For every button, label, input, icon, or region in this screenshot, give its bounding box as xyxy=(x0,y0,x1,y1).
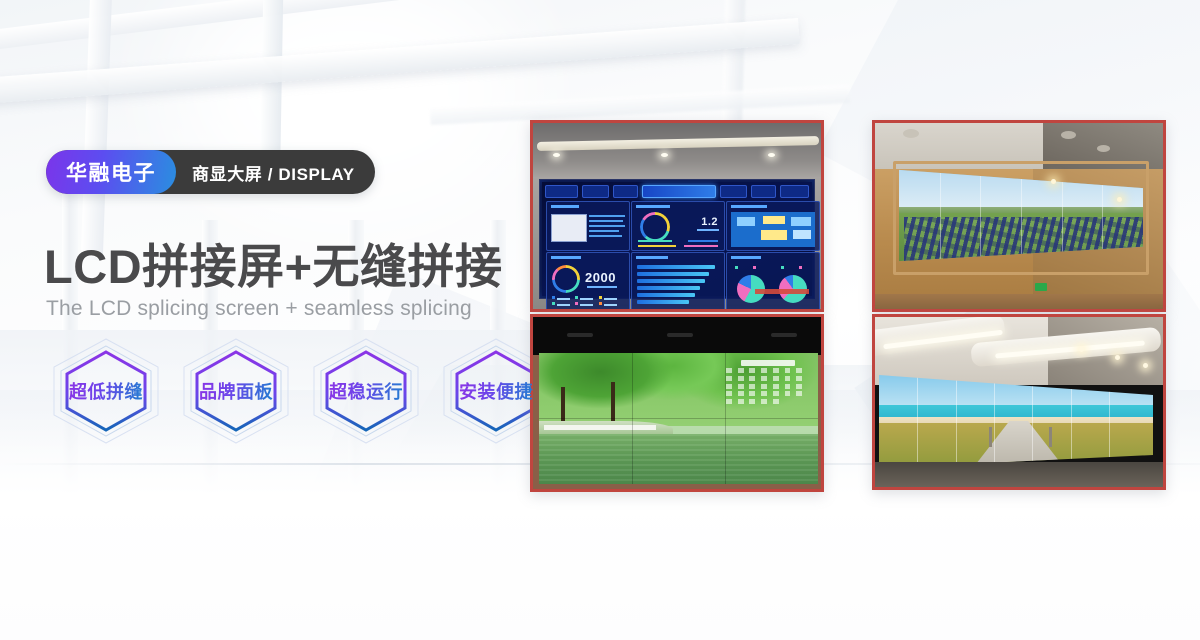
feature-item[interactable]: 超低拼缝 xyxy=(48,335,164,447)
gallery-photo-dashboard[interactable]: 1.2 xyxy=(530,120,824,312)
headline-title: LCD拼接屏+无缝拼接 xyxy=(44,228,503,297)
ceiling-speaker-icon xyxy=(1097,145,1110,152)
wall-frame xyxy=(893,161,1149,275)
gallery-photo-solar[interactable] xyxy=(872,120,1166,312)
ceiling-speaker-icon xyxy=(1061,131,1076,139)
feature-label: 安装便捷 xyxy=(459,378,533,404)
wall-lamp-icon xyxy=(1051,179,1056,184)
dashboard-header xyxy=(545,185,809,197)
floor xyxy=(875,294,1163,309)
dashboard-card-flow xyxy=(726,201,820,251)
dashboard-card-ranking xyxy=(631,252,725,309)
photo-scene: 1.2 xyxy=(533,123,821,309)
downlight-icon xyxy=(553,153,560,157)
brand-category: 商显大屏 / DISPLAY xyxy=(176,150,375,194)
dashboard-card-donut: 1.2 xyxy=(631,201,725,251)
dashboard-card-kpi: 2000 xyxy=(546,252,630,309)
headline-subtitle: The LCD splicing screen + seamless splic… xyxy=(46,297,472,321)
ceiling-speaker-icon xyxy=(903,129,919,138)
feature-list: 超低拼缝 品牌面板 超稳运行 安装便捷 xyxy=(48,335,554,447)
downlight-icon xyxy=(1079,347,1084,352)
feature-label: 超稳运行 xyxy=(329,378,403,404)
lcd-video-wall xyxy=(539,353,818,484)
dashboard-card xyxy=(546,201,630,251)
photo-scene xyxy=(875,317,1163,487)
feature-item[interactable]: 品牌面板 xyxy=(178,335,294,447)
brand-name: 华融电子 xyxy=(46,150,176,194)
calendar-overlay xyxy=(726,360,810,415)
dashboard-screen: 1.2 xyxy=(542,182,812,296)
downlight-icon xyxy=(661,153,668,157)
feature-item[interactable]: 超稳运行 xyxy=(308,335,424,447)
downlight-icon xyxy=(768,153,775,157)
exit-sign-icon xyxy=(1035,283,1047,291)
product-banner: 华融电子 商显大屏 / DISPLAY LCD拼接屏+无缝拼接 The LCD … xyxy=(0,0,1200,640)
ceiling-mullion xyxy=(260,0,284,170)
gallery-photo-boardwalk[interactable] xyxy=(872,314,1166,490)
gallery-photo-lake[interactable] xyxy=(530,314,824,492)
wall-lamp-icon xyxy=(1117,197,1122,202)
feature-label: 超低拼缝 xyxy=(69,378,143,404)
ceiling-mullion xyxy=(81,0,113,260)
lcd-video-wall: 1.2 xyxy=(539,179,815,299)
photo-scene xyxy=(875,123,1163,309)
brand-badge: 华融电子 商显大屏 / DISPLAY xyxy=(46,150,375,194)
downlight-icon xyxy=(1143,363,1148,368)
downlight-icon xyxy=(1115,355,1120,360)
dashboard-card-pies xyxy=(726,252,820,309)
feature-label: 品牌面板 xyxy=(199,378,273,404)
wall-bezel xyxy=(533,317,821,355)
photo-scene xyxy=(533,317,821,489)
floor xyxy=(875,462,1163,488)
